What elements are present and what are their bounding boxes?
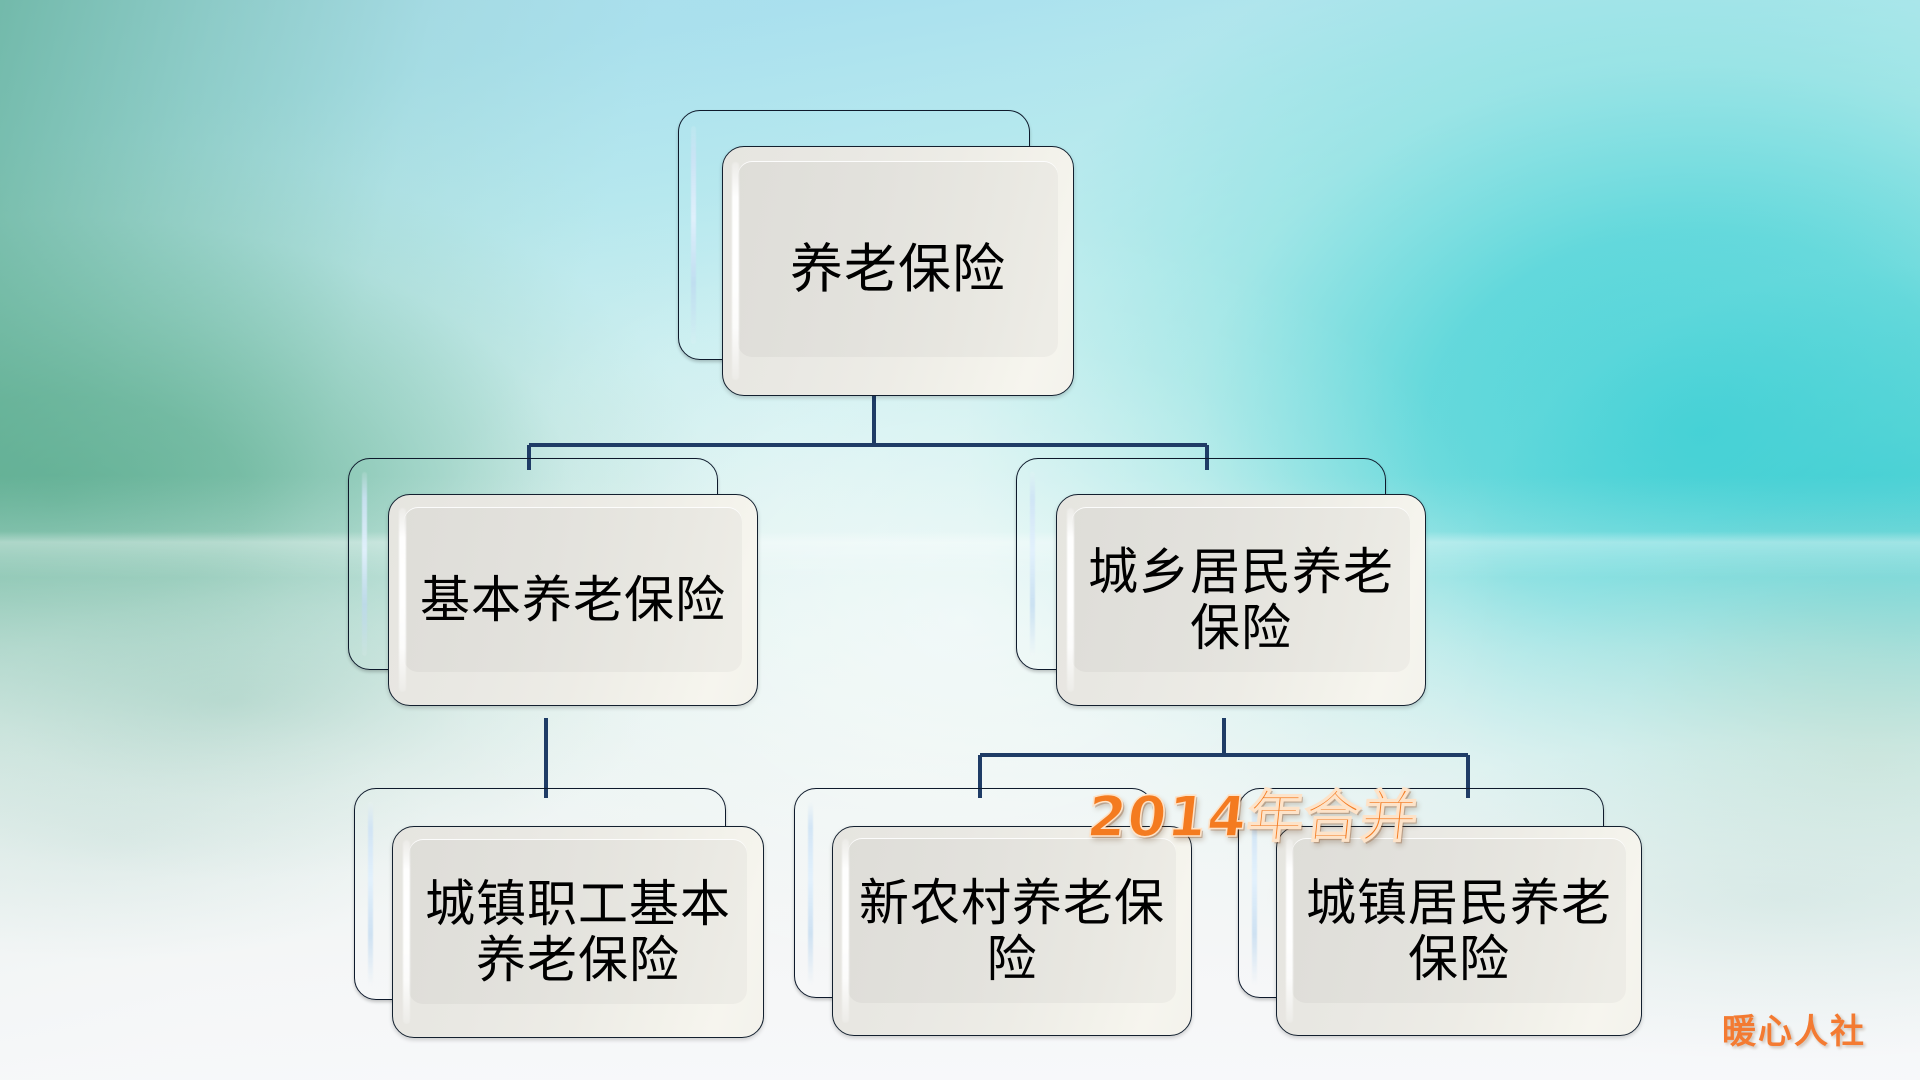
org-chart: 养老保险 基本养老保险 城乡居民养老保险 城镇职工基本养老保险 [0,0,1920,1080]
node-urban-rural-card: 城乡居民养老保险 [1056,494,1426,706]
slide-canvas: 养老保险 基本养老保险 城乡居民养老保险 城镇职工基本养老保险 [0,0,1920,1080]
node-urban-rural-label: 城乡居民养老保险 [1057,495,1425,705]
node-new-rural-label: 新农村养老保险 [833,827,1191,1035]
node-urban-rural[interactable]: 城乡居民养老保险 [1016,458,1386,670]
node-urban-resident-card: 城镇居民养老保险 [1276,826,1642,1036]
watermark-logo: 暖心人社 [1722,1004,1866,1053]
node-basic-label: 基本养老保险 [389,495,757,705]
node-urban-employee-card: 城镇职工基本养老保险 [392,826,764,1038]
node-urban-resident-label: 城镇居民养老保险 [1277,827,1641,1035]
node-root-label: 养老保险 [723,147,1073,395]
node-root[interactable]: 养老保险 [678,110,1030,360]
merge-annotation: 2014年合并 [1084,772,1423,853]
node-urban-employee-label: 城镇职工基本养老保险 [393,827,763,1037]
node-root-card: 养老保险 [722,146,1074,396]
node-basic-card: 基本养老保险 [388,494,758,706]
node-new-rural-card: 新农村养老保险 [832,826,1192,1036]
node-urban-employee[interactable]: 城镇职工基本养老保险 [354,788,726,1000]
node-basic[interactable]: 基本养老保险 [348,458,718,670]
